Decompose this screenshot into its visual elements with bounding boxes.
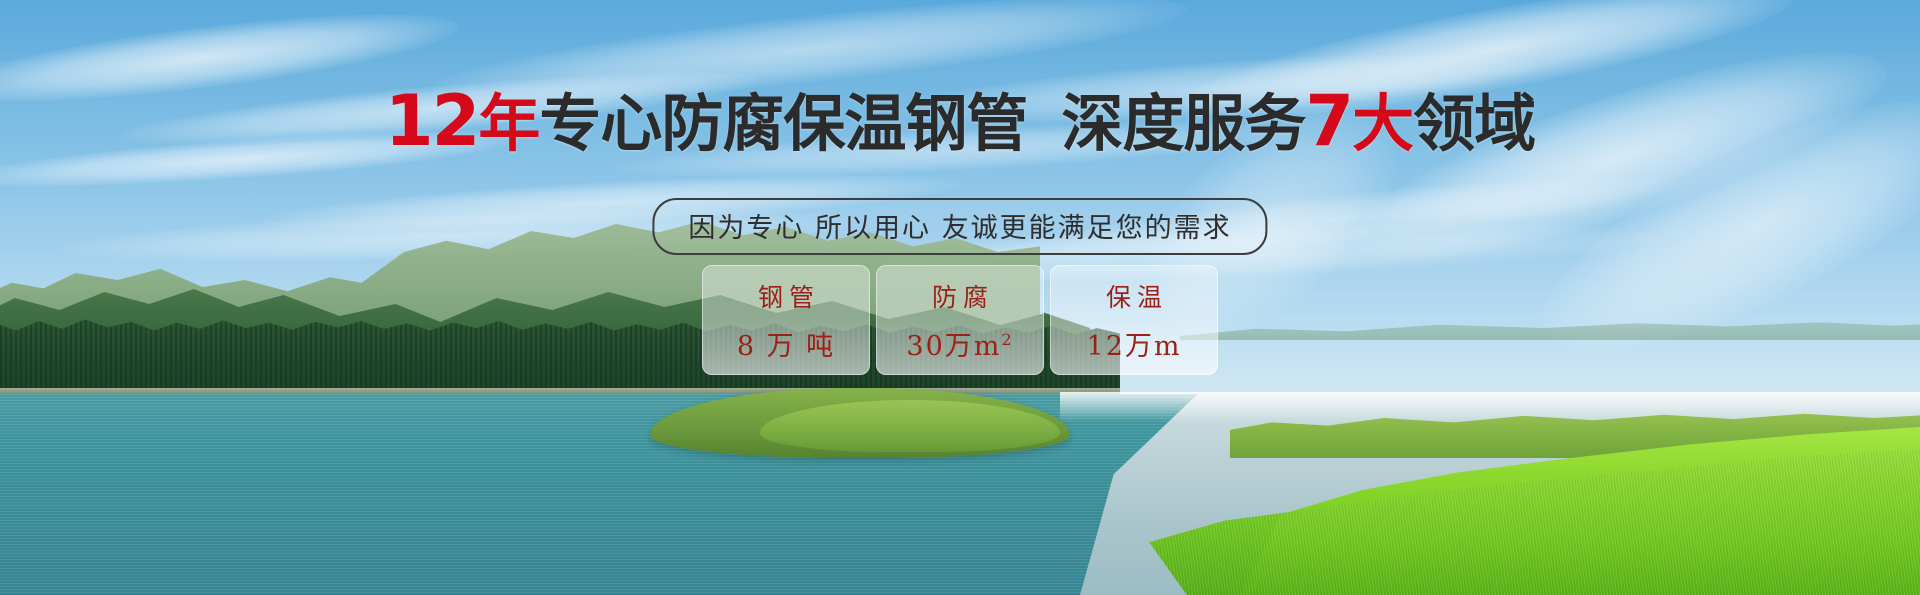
headline-years-number: 12 <box>385 80 478 162</box>
headline-segment-two: 深度服务 <box>1061 87 1305 160</box>
subtitle-pill: 因为专心 所以用心 友诚更能满足您的需求 <box>652 198 1267 255</box>
stat-card-value: 30万m2 <box>906 324 1013 363</box>
headline-years-unit: 年 <box>478 87 539 160</box>
stat-card-title: 保温 <box>1100 278 1168 314</box>
headline-fields-unit: 大 <box>1352 87 1413 160</box>
headline: 12年专心防腐保温钢管深度服务7大领域 <box>0 86 1920 156</box>
stat-value-base: 30万m <box>906 331 1001 362</box>
stat-card-value: 8 万 吨 <box>737 324 835 363</box>
promo-banner: 12年专心防腐保温钢管深度服务7大领域 因为专心 所以用心 友诚更能满足您的需求… <box>0 0 1920 595</box>
stat-card-value: 12万m <box>1087 324 1182 363</box>
headline-segment-three: 领域 <box>1413 87 1535 160</box>
stat-card-anticorrosion: 防腐 30万m2 <box>876 265 1044 375</box>
stat-value-base: 8 万 吨 <box>737 331 835 362</box>
stat-value-exponent: 2 <box>1001 330 1013 349</box>
stats-card-group: 钢管 8 万 吨 防腐 30万m2 保温 12万m <box>702 265 1218 375</box>
banner-content: 12年专心防腐保温钢管深度服务7大领域 因为专心 所以用心 友诚更能满足您的需求… <box>0 0 1920 595</box>
stat-value-base: 12万m <box>1087 331 1182 362</box>
stat-card-title: 钢管 <box>752 278 820 314</box>
stat-card-insulation: 保温 12万m <box>1050 265 1218 375</box>
stat-card-title: 防腐 <box>926 278 994 314</box>
headline-fields-number: 7 <box>1305 80 1352 162</box>
stat-card-steel-pipe: 钢管 8 万 吨 <box>702 265 870 375</box>
headline-segment-one: 专心防腐保温钢管 <box>539 87 1027 160</box>
